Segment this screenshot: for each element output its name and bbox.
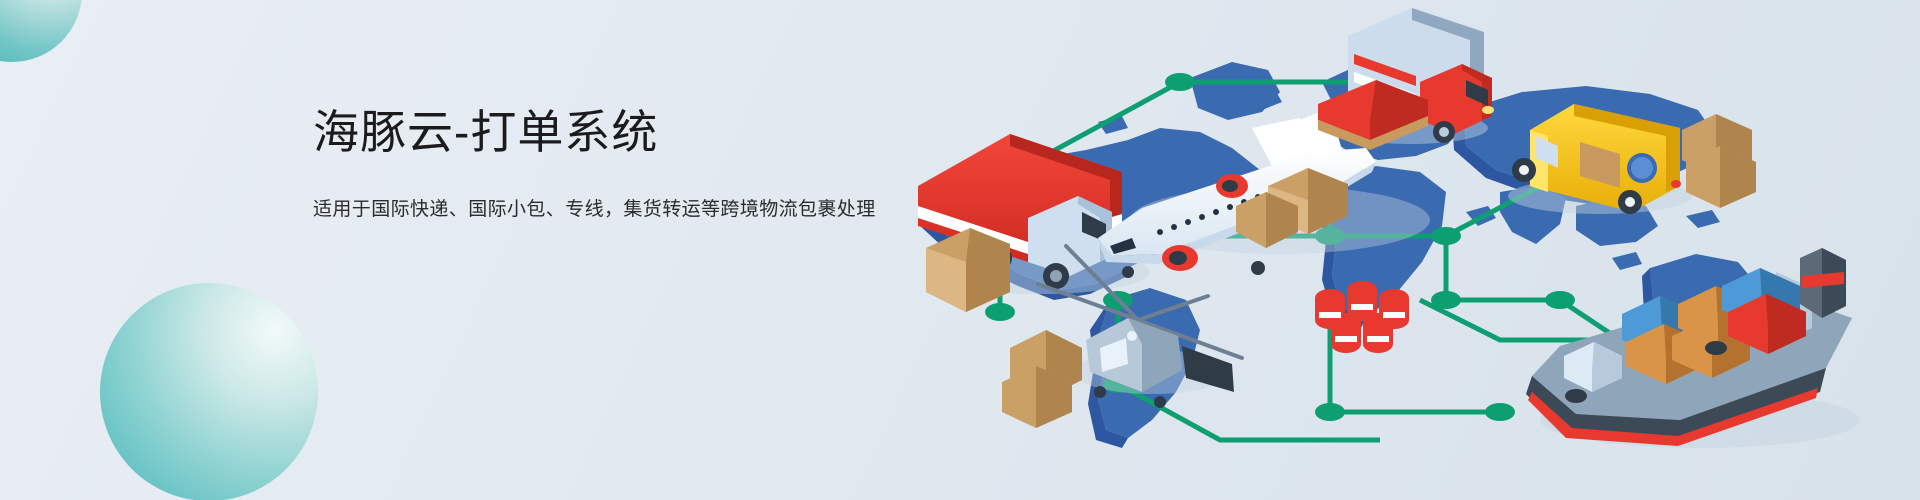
cardboard-boxes	[1682, 114, 1756, 208]
page-subtitle: 适用于国际快递、国际小包、专线，集货转运等跨境物流包裹处理	[313, 196, 933, 225]
decorative-circle-top-left	[0, 0, 82, 62]
hero-banner: 海豚云-打单系统 适用于国际快递、国际小包、专线，集货转运等跨境物流包裹处理	[0, 0, 1920, 500]
cardboard-boxes	[1002, 330, 1082, 428]
banner-text-block: 海豚云-打单系统 适用于国际快递、国际小包、专线，集货转运等跨境物流包裹处理	[313, 104, 933, 224]
page-title: 海豚云-打单系统	[313, 104, 933, 162]
isometric-logistics-illustration	[860, 0, 1920, 500]
decorative-circle-bottom-left	[100, 283, 318, 500]
